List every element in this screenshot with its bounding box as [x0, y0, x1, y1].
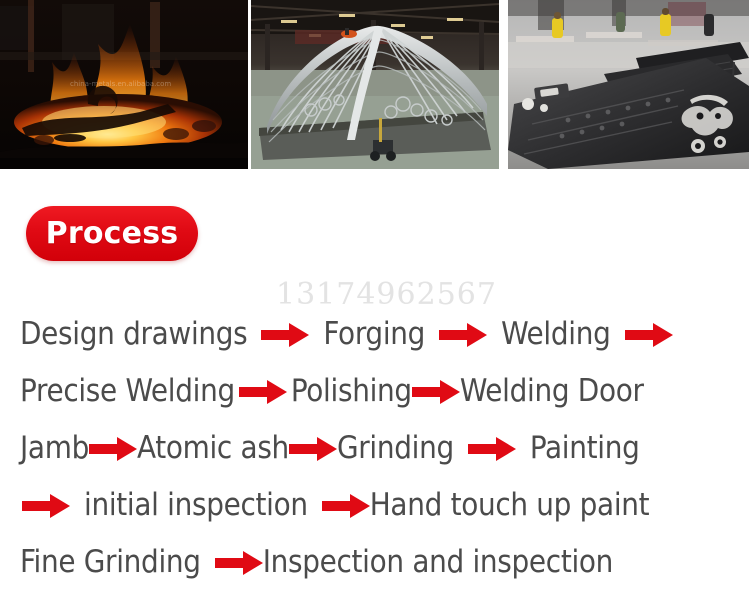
- process-step: initial inspection: [84, 490, 308, 521]
- arrow-right-icon: [22, 493, 70, 519]
- process-step: Welding: [501, 319, 610, 350]
- forging-furnace-photo: china-metals.en.alibaba.com: [0, 0, 248, 169]
- process-flow-line: Precise Welding Polishing Welding Door: [0, 363, 749, 420]
- process-step: Atomic ash: [137, 433, 289, 464]
- process-step: Welding Door: [460, 376, 644, 407]
- process-flow-line: Jamb Atomic ash Grinding Painting: [0, 420, 749, 477]
- process-flow-line: Design drawings Forging Welding: [0, 306, 749, 363]
- welded-canopy-frame-photo: [251, 0, 499, 169]
- process-badge-label: Process: [46, 219, 179, 249]
- arrow-right-icon: [89, 436, 137, 462]
- process-flow: Design drawings Forging Welding Precise …: [0, 306, 749, 591]
- process-step: Painting: [530, 433, 640, 464]
- process-step: Forging: [323, 319, 425, 350]
- arrow-right-icon: [468, 436, 516, 462]
- process-flow-line: initial inspection Hand touch up paint: [0, 477, 749, 534]
- painted-door-panels-photo: [508, 0, 749, 169]
- arrow-right-icon: [439, 322, 487, 348]
- arrow-right-icon: [261, 322, 309, 348]
- process-step: Grinding: [337, 433, 454, 464]
- process-step: Precise Welding: [20, 376, 235, 407]
- process-infographic-page: china-metals.en.alibaba.com: [0, 0, 749, 597]
- process-step: Fine Grinding: [20, 547, 201, 578]
- process-step: Inspection and inspection: [263, 547, 613, 578]
- process-step: Jamb: [20, 433, 89, 464]
- process-badge: Process: [26, 206, 198, 261]
- process-flow-line: Fine Grinding Inspection and inspection: [0, 534, 749, 591]
- arrow-right-icon: [239, 379, 287, 405]
- arrow-right-icon: [625, 322, 673, 348]
- svg-text:china-metals.en.alibaba.com: china-metals.en.alibaba.com: [70, 80, 171, 88]
- process-step: Hand touch up paint: [370, 490, 650, 521]
- process-step: Design drawings: [20, 319, 247, 350]
- process-step: Polishing: [291, 376, 412, 407]
- arrow-right-icon: [215, 550, 263, 576]
- photo-strip: china-metals.en.alibaba.com: [0, 0, 749, 169]
- arrow-right-icon: [289, 436, 337, 462]
- arrow-right-icon: [412, 379, 460, 405]
- arrow-right-icon: [322, 493, 370, 519]
